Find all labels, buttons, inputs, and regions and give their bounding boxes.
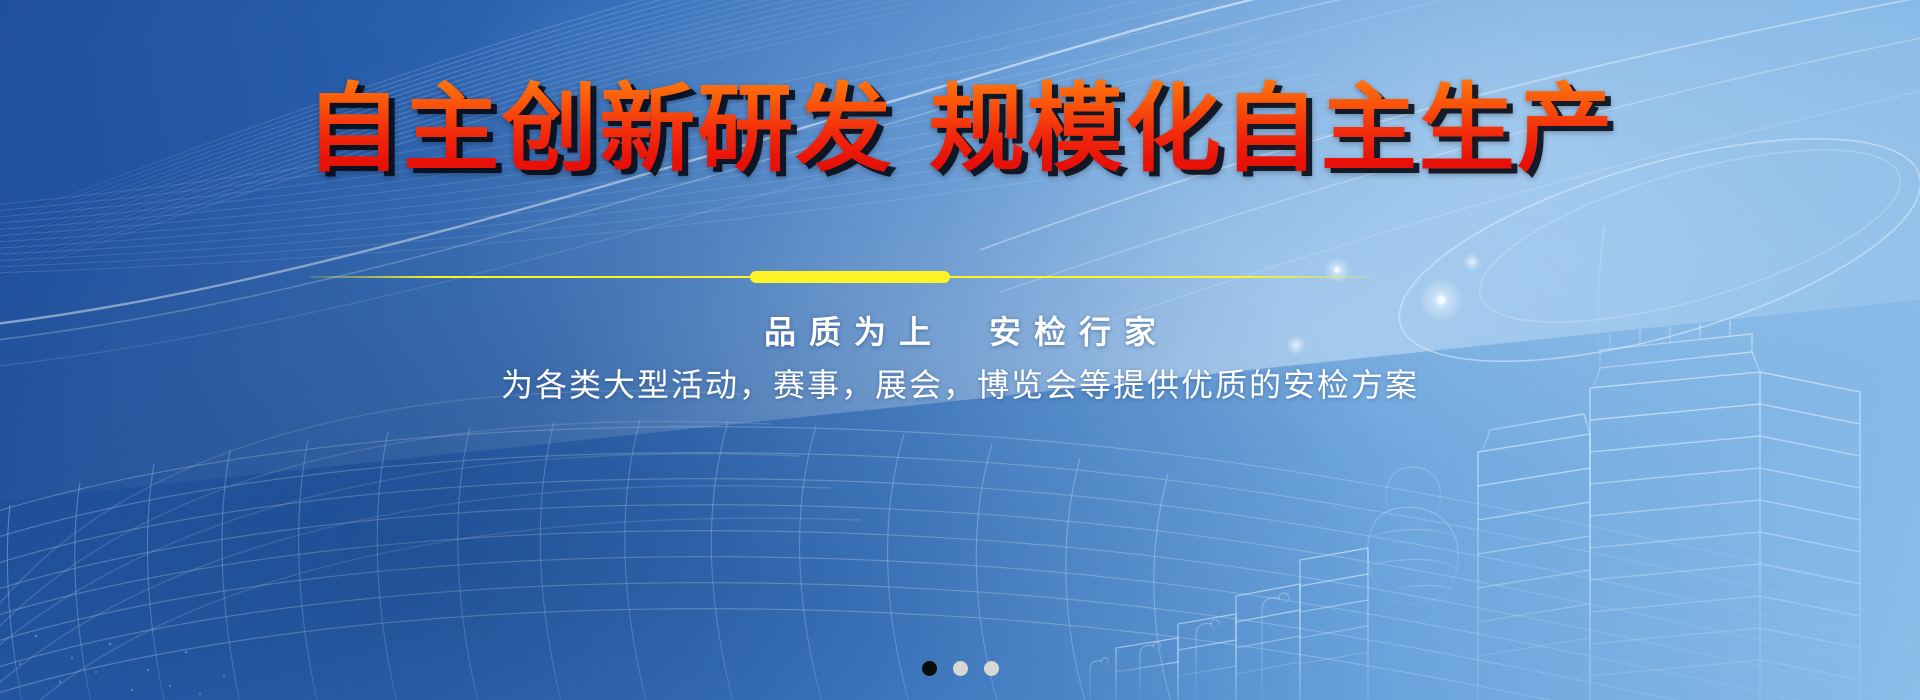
divider-accent-bar: [750, 271, 950, 283]
banner-title: 自主创新研发 规模化自主生产: [305, 76, 1614, 184]
hero-banner: 自主创新研发 规模化自主生产 品质为上 安检行家 为各类大型活动，赛事，展会，博…: [0, 0, 1920, 700]
carousel-dots: [0, 661, 1920, 676]
banner-title-wrap: 自主创新研发 规模化自主生产: [0, 76, 1920, 184]
carousel-dot-1[interactable]: [922, 661, 937, 676]
divider-line-icon: [310, 270, 1370, 284]
carousel-dot-3[interactable]: [984, 661, 999, 676]
banner-subtitle: 为各类大型活动，赛事，展会，博览会等提供优质的安检方案: [0, 360, 1920, 406]
banner-slogan: 品质为上 安检行家: [0, 307, 1920, 353]
carousel-dot-2[interactable]: [953, 661, 968, 676]
banner-content: 自主创新研发 规模化自主生产 品质为上 安检行家 为各类大型活动，赛事，展会，博…: [0, 0, 1920, 700]
